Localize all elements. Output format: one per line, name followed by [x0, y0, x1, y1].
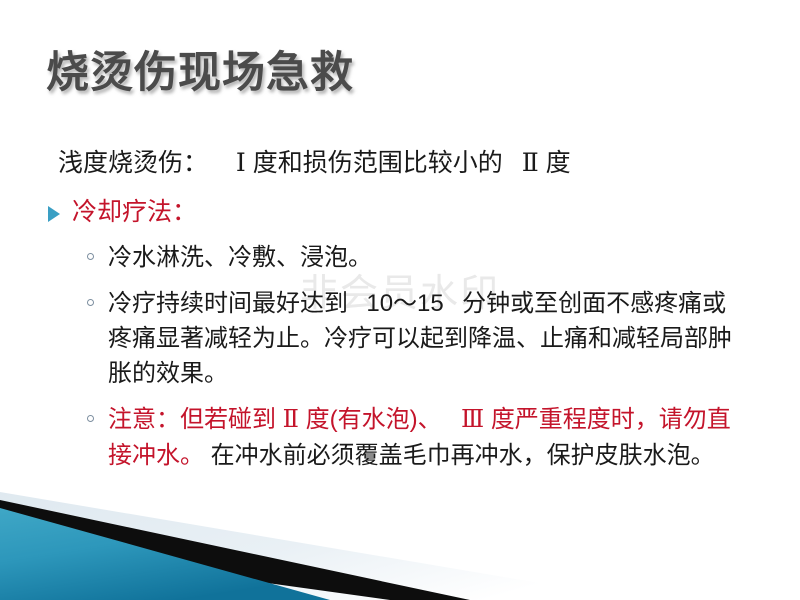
triangle-bullet-icon [48, 206, 60, 222]
warning-text-pre: 注意：但若碰到 [108, 406, 276, 433]
warning-text-tail: 在冲水前必须覆盖毛巾再冲水，保护皮肤水泡。 [211, 442, 715, 469]
level2-bullet-item: 注意：但若碰到 Ⅱ 度(有水泡)、 Ⅲ 度严重程度时，请勿直接冲水。 在冲水前必… [86, 402, 744, 473]
circle-bullet-icon [87, 415, 94, 422]
light-band-shape [0, 492, 640, 600]
bottom-diagonal-decoration [0, 470, 800, 600]
roman-numeral-one: Ⅰ [236, 150, 246, 177]
lead-mid-text: 度和损伤范围比较小的 [253, 149, 503, 177]
level1-bullet-label: 冷却疗法： [72, 198, 197, 226]
lead-tail-text: 度 [546, 149, 571, 177]
bullet-2-duration-range: 10～15 [366, 290, 443, 317]
slide-canvas: 非会员水印 烧烫伤现场急救 浅度烧烫伤： Ⅰ 度和损伤范围比较小的 Ⅱ 度 冷却… [0, 0, 800, 600]
lead-label: 浅度烧烫伤： [58, 149, 208, 177]
page-title: 烧烫伤现场急救 [46, 38, 354, 100]
black-stripe-shape [0, 500, 470, 600]
circle-bullet-icon [87, 253, 94, 260]
circle-bullet-icon [87, 299, 94, 306]
level2-bullet-item: 冷疗持续时间最好达到 10～15 分钟或至创面不感疼痛或疼痛显著减轻为止。冷疗可… [86, 286, 744, 391]
level2-bullet-item: 冷水淋洗、冷敷、浸泡。 [86, 240, 744, 275]
warning-roman-three: Ⅲ [461, 407, 484, 433]
lead-line: 浅度烧烫伤： Ⅰ 度和损伤范围比较小的 Ⅱ 度 [58, 146, 800, 182]
slide-body: 浅度烧烫伤： Ⅰ 度和损伤范围比较小的 Ⅱ 度 冷却疗法： 冷水淋洗、冷敷、浸泡… [0, 146, 800, 473]
bullet-1-text: 冷水淋洗、冷敷、浸泡。 [108, 244, 372, 271]
warning-roman-two: Ⅱ [283, 407, 299, 433]
roman-numeral-two: Ⅱ [522, 150, 539, 177]
warning-text-mid: 度(有水泡)、 [306, 406, 442, 433]
bullet-2-text-pre: 冷疗持续时间最好达到 [108, 290, 348, 317]
level1-bullet-item: 冷却疗法： [46, 196, 800, 230]
teal-triangle-shape [0, 508, 330, 600]
